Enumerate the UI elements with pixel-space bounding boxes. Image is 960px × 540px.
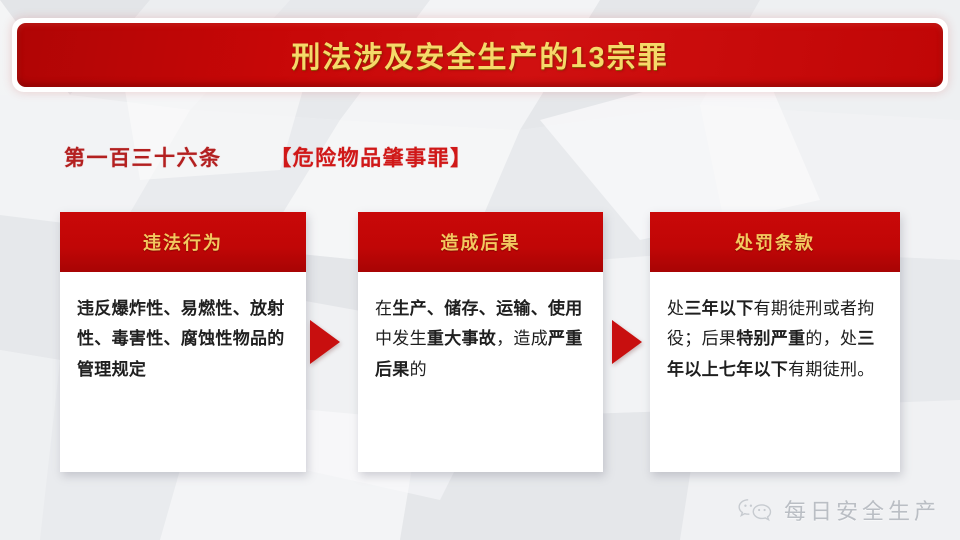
card-header-label: 处罚条款 bbox=[735, 229, 815, 255]
card-body-penalty: 处三年以下有期徒刑或者拘役；后果特别严重的，处三年以上七年以下有期徒刑。 bbox=[650, 272, 900, 385]
watermark: 每日安全生产 bbox=[738, 494, 940, 526]
crime-name: 【危险物品肇事罪】 bbox=[270, 147, 473, 170]
card-header-label: 造成后果 bbox=[441, 229, 521, 255]
card-header-penalty: 处罚条款 bbox=[650, 212, 900, 272]
card-body-illegal-act: 违反爆炸性、易燃性、放射性、毒害性、腐蚀性物品的管理规定 bbox=[60, 272, 306, 385]
watermark-text: 每日安全生产 bbox=[784, 494, 940, 526]
emphasis-text: 重大事故 bbox=[427, 329, 496, 348]
emphasis-text: 生产、储存、运输、使用 bbox=[392, 299, 582, 318]
wechat-icon bbox=[738, 496, 774, 524]
emphasis-text: 违反爆炸性、易燃性、放射性、毒害性、腐蚀性物品的管理规定 bbox=[77, 299, 285, 379]
body-text: 的，处 bbox=[805, 329, 857, 348]
body-text: ，造成 bbox=[496, 329, 548, 348]
body-text: 中发生 bbox=[375, 329, 427, 348]
title-banner: 刑法涉及安全生产的13宗罪 bbox=[12, 18, 948, 92]
arrow-right-icon bbox=[310, 320, 340, 364]
article-number: 第一百三十六条 bbox=[64, 147, 222, 170]
body-text: 的 bbox=[410, 360, 427, 379]
article-subtitle: 第一百三十六条 【危险物品肇事罪】 bbox=[64, 142, 473, 172]
emphasis-text: 三年以下 bbox=[684, 299, 753, 318]
title-banner-inner: 刑法涉及安全生产的13宗罪 bbox=[17, 23, 943, 87]
card-header-illegal-act: 违法行为 bbox=[60, 212, 306, 272]
emphasis-text: 特别严重 bbox=[736, 329, 805, 348]
card-header-label: 违法行为 bbox=[143, 229, 223, 255]
card-penalty: 处罚条款 处三年以下有期徒刑或者拘役；后果特别严重的，处三年以上七年以下有期徒刑… bbox=[650, 212, 900, 472]
card-header-consequence: 造成后果 bbox=[358, 212, 603, 272]
card-illegal-act: 违法行为 违反爆炸性、易燃性、放射性、毒害性、腐蚀性物品的管理规定 bbox=[60, 212, 306, 472]
arrow-right-icon bbox=[612, 320, 642, 364]
body-text: 有期徒刑。 bbox=[788, 360, 875, 379]
body-text: 在 bbox=[375, 299, 392, 318]
card-consequence: 造成后果 在生产、储存、运输、使用中发生重大事故，造成严重后果的 bbox=[358, 212, 603, 472]
page-title: 刑法涉及安全生产的13宗罪 bbox=[291, 34, 668, 76]
card-body-consequence: 在生产、储存、运输、使用中发生重大事故，造成严重后果的 bbox=[358, 272, 603, 385]
body-text: 处 bbox=[667, 299, 684, 318]
